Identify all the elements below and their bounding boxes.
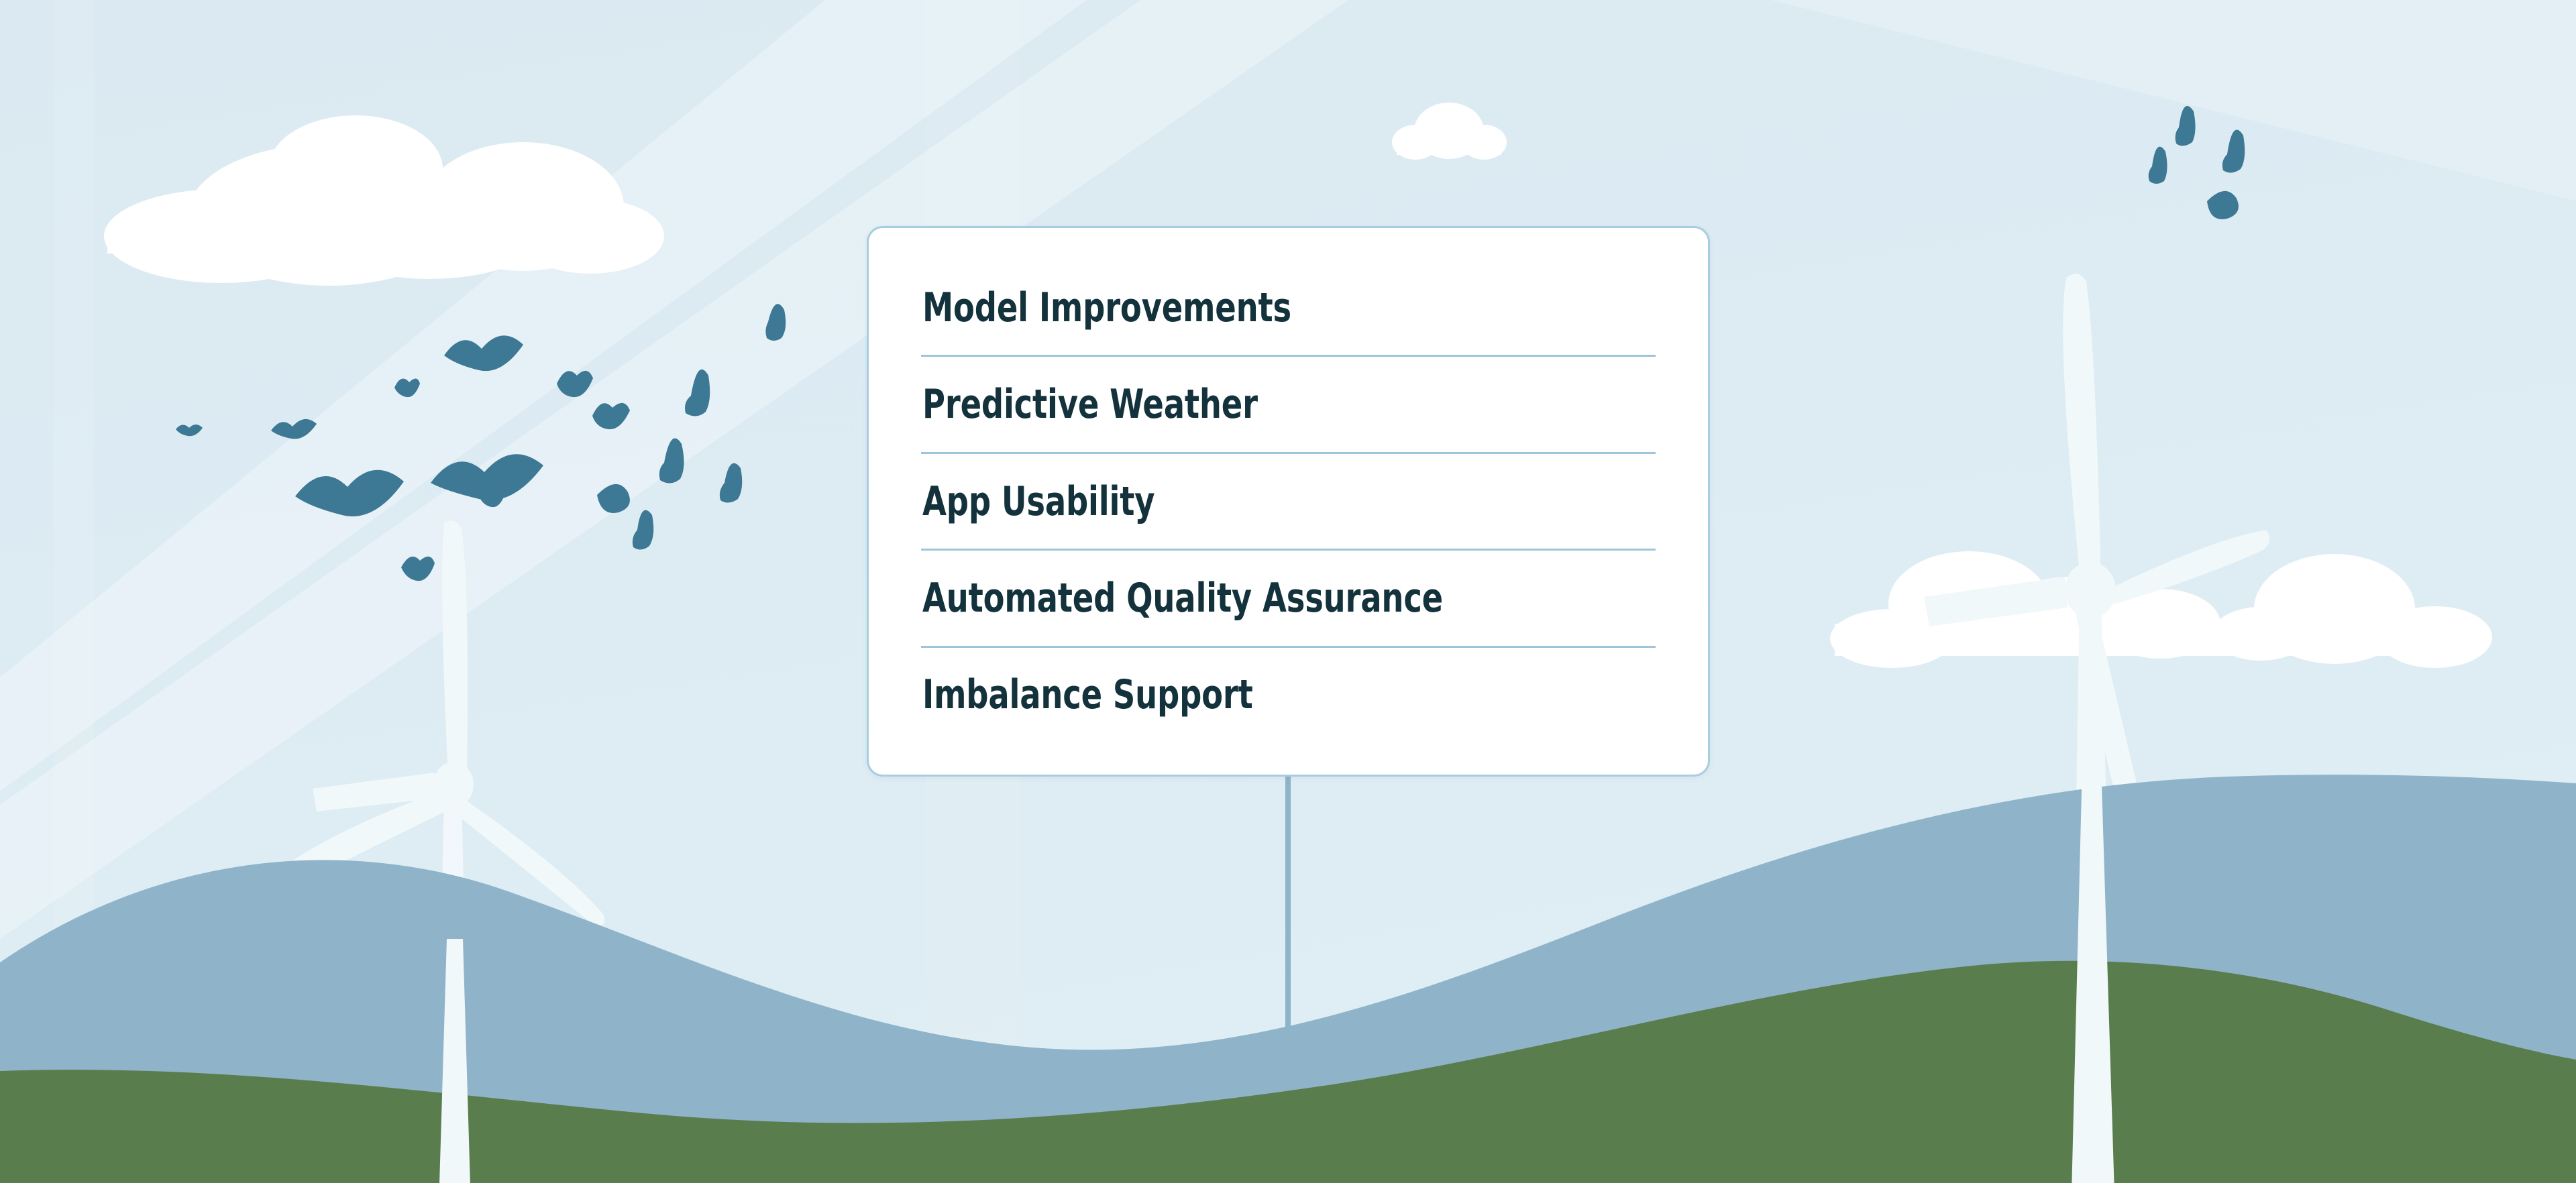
feature-list: Model Improvements Predictive Weather Ap…: [921, 260, 1656, 742]
feature-label-model-improvements: Model Improvements: [922, 288, 1291, 328]
feature-card: Model Improvements Predictive Weather Ap…: [867, 226, 1710, 777]
turbine-hub: [2065, 562, 2116, 618]
page-root: Model Improvements Predictive Weather Ap…: [0, 0, 2576, 1183]
list-item[interactable]: Model Improvements: [921, 260, 1656, 357]
feature-label-imbalance-support: Imbalance Support: [922, 675, 1253, 715]
feature-label-automated-quality-assurance: Automated Quality Assurance: [922, 578, 1443, 618]
list-item[interactable]: Imbalance Support: [921, 648, 1656, 742]
feature-label-app-usability: App Usability: [922, 482, 1155, 522]
list-item[interactable]: Automated Quality Assurance: [921, 551, 1656, 647]
feature-label-predictive-weather: Predictive Weather: [922, 384, 1258, 425]
turbine-hub: [433, 762, 474, 807]
list-item[interactable]: Predictive Weather: [921, 357, 1656, 453]
list-item[interactable]: App Usability: [921, 454, 1656, 551]
sign-post: [1285, 775, 1291, 1036]
